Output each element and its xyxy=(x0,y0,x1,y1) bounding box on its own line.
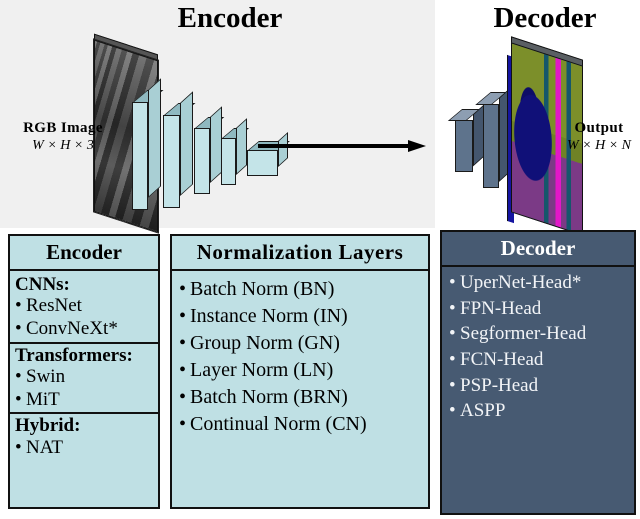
bullet-icon: • xyxy=(15,295,26,317)
list-item-label: ASPP xyxy=(460,400,505,421)
encoder-section-title: CNNs: xyxy=(10,273,158,295)
panel-normalization-header: Normalization Layers xyxy=(172,236,428,271)
panel-encoder: Encoder CNNs: •ResNet •ConvNeXt* Transfo… xyxy=(8,234,160,509)
list-item[interactable]: •MiT xyxy=(10,389,158,412)
decoder-diagram-title: Decoder xyxy=(450,2,640,35)
list-item[interactable]: •Group Norm (GN) xyxy=(172,330,428,357)
bullet-icon: • xyxy=(449,399,460,424)
output-label-text: Output xyxy=(560,120,638,137)
list-item[interactable]: •Swin xyxy=(10,366,158,389)
list-item[interactable]: •Batch Norm (BN) xyxy=(172,276,428,303)
bullet-icon: • xyxy=(449,297,460,322)
input-dims-text: W × H × 3 xyxy=(4,138,122,154)
encoder-diagram-title: Encoder xyxy=(130,2,330,35)
list-item-label: Layer Norm (LN) xyxy=(190,359,333,381)
bullet-icon: • xyxy=(15,437,26,459)
bullet-icon: • xyxy=(179,303,190,329)
list-item[interactable]: •UperNet-Head* xyxy=(442,271,634,297)
component-panels: Encoder CNNs: •ResNet •ConvNeXt* Transfo… xyxy=(0,228,640,519)
list-item-label: FCN-Head xyxy=(460,349,543,370)
bullet-icon: • xyxy=(449,374,460,399)
bullet-icon: • xyxy=(179,384,190,410)
list-item[interactable]: •Layer Norm (LN) xyxy=(172,357,428,384)
bullet-icon: • xyxy=(449,322,460,347)
list-item[interactable]: •Continual Norm (CN) xyxy=(172,411,428,438)
architecture-diagram: Encoder Decoder xyxy=(0,0,640,228)
flow-arrow-icon xyxy=(258,140,426,152)
figure-root: Encoder Decoder xyxy=(0,0,640,519)
list-item-label: Segformer-Head xyxy=(460,323,586,344)
list-item-label: ConvNeXt* xyxy=(26,318,118,339)
bullet-icon: • xyxy=(15,366,26,388)
list-item-label: NAT xyxy=(26,437,63,458)
list-item-label: MiT xyxy=(26,389,60,410)
list-item[interactable]: •Segformer-Head xyxy=(442,322,634,348)
list-item-label: Swin xyxy=(26,366,65,387)
encoder-section-title: Hybrid: xyxy=(10,414,158,436)
list-item-label: PSP-Head xyxy=(460,375,538,396)
list-item[interactable]: •FCN-Head xyxy=(442,348,634,374)
bullet-icon: • xyxy=(179,411,190,437)
panel-normalization-layers: Normalization Layers •Batch Norm (BN) •I… xyxy=(170,234,430,509)
encoder-section-title: Transformers: xyxy=(10,344,158,366)
panel-encoder-header: Encoder xyxy=(10,236,158,271)
bullet-icon: • xyxy=(15,318,26,340)
bullet-icon: • xyxy=(179,330,190,356)
panel-decoder-body: •UperNet-Head* •FPN-Head •Segformer-Head… xyxy=(442,267,634,425)
list-item-label: Instance Norm (IN) xyxy=(190,305,348,327)
panel-normalization-body: •Batch Norm (BN) •Instance Norm (IN) •Gr… xyxy=(172,271,428,438)
list-item[interactable]: •ASPP xyxy=(442,399,634,425)
list-item[interactable]: •NAT xyxy=(10,437,158,460)
list-item[interactable]: •Instance Norm (IN) xyxy=(172,303,428,330)
panel-encoder-body: CNNs: •ResNet •ConvNeXt* Transformers: •… xyxy=(10,271,158,460)
list-item-label: Batch Norm (BN) xyxy=(190,278,334,300)
encoder-section-transformers: Transformers: •Swin •MiT xyxy=(10,344,158,415)
list-item[interactable]: •ResNet xyxy=(10,295,158,318)
bullet-icon: • xyxy=(179,276,190,302)
list-item-label: Group Norm (GN) xyxy=(190,332,340,354)
list-item[interactable]: •ConvNeXt* xyxy=(10,318,158,341)
bullet-icon: • xyxy=(15,389,26,411)
list-item[interactable]: •Batch Norm (BRN) xyxy=(172,384,428,411)
encoder-section-hybrid: Hybrid: •NAT xyxy=(10,414,158,459)
list-item[interactable]: •FPN-Head xyxy=(442,297,634,323)
encoder-section-cnns: CNNs: •ResNet •ConvNeXt* xyxy=(10,273,158,344)
list-item-label: UperNet-Head* xyxy=(460,272,581,293)
output-dims-text: W × H × N xyxy=(560,138,638,154)
input-label: RGB Image W × H × 3 xyxy=(4,120,122,154)
bullet-icon: • xyxy=(449,271,460,296)
list-item-label: Batch Norm (BRN) xyxy=(190,386,348,408)
list-item-label: FPN-Head xyxy=(460,298,541,319)
panel-decoder: Decoder •UperNet-Head* •FPN-Head •Segfor… xyxy=(440,230,636,515)
bullet-icon: • xyxy=(179,357,190,383)
output-label: Output W × H × N xyxy=(560,120,638,154)
list-item-label: Continual Norm (CN) xyxy=(190,413,367,435)
panel-decoder-header: Decoder xyxy=(442,232,634,267)
bullet-icon: • xyxy=(449,348,460,373)
input-label-text: RGB Image xyxy=(4,120,122,137)
list-item[interactable]: •PSP-Head xyxy=(442,374,634,400)
list-item-label: ResNet xyxy=(26,295,82,316)
